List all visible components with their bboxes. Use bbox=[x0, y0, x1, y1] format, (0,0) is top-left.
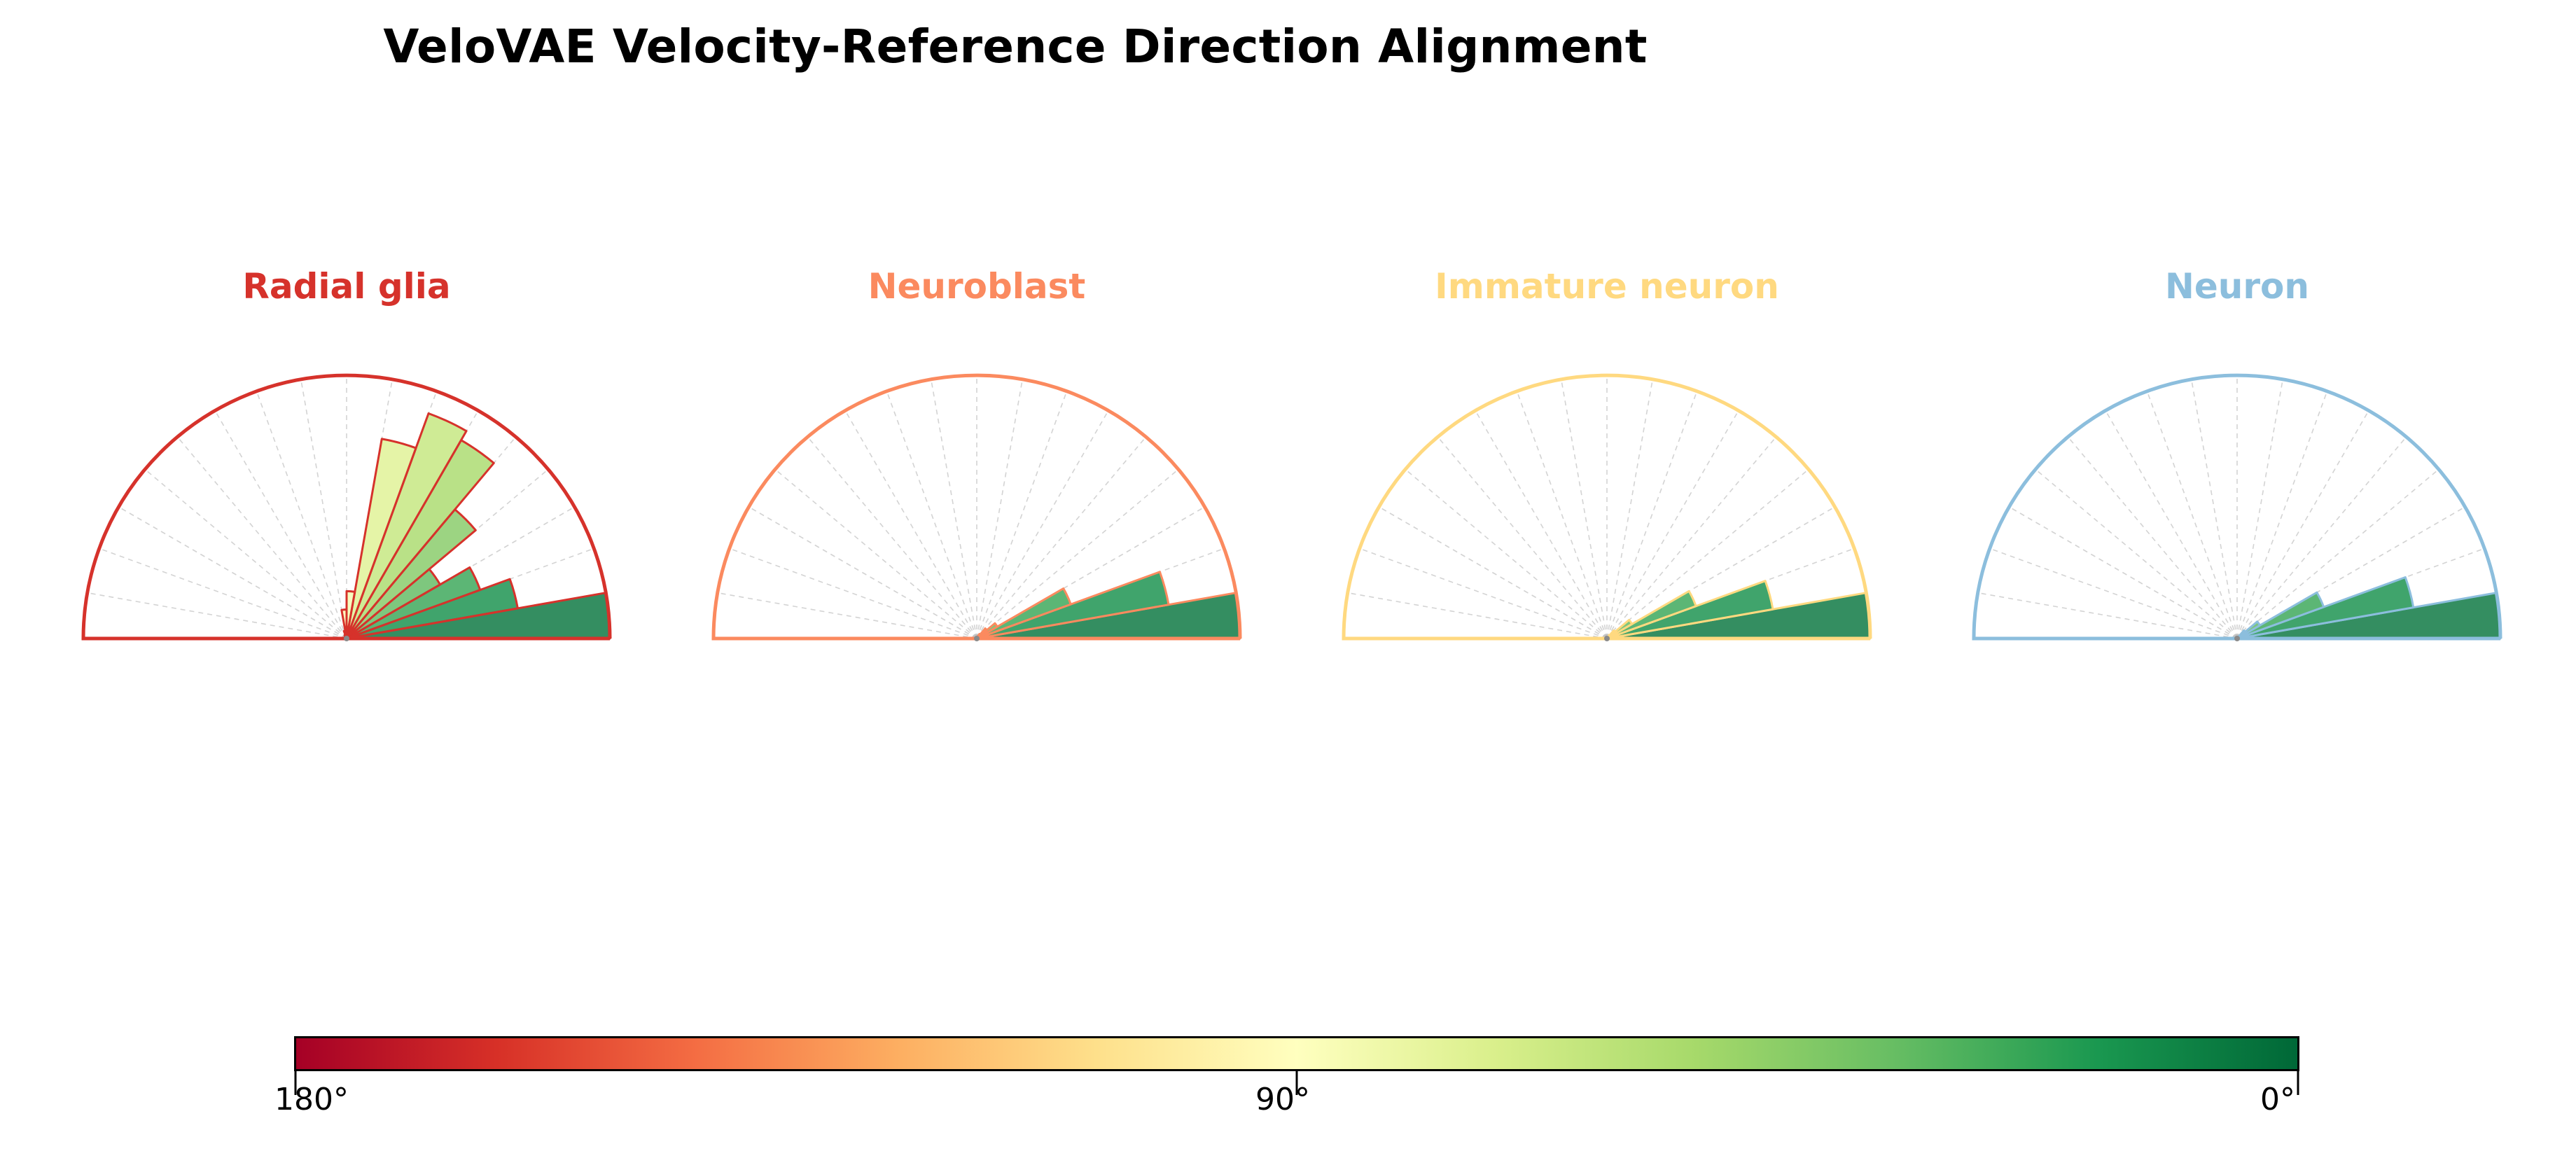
colorbar-tick-180: 180° bbox=[274, 1082, 349, 1117]
polar-axes-immature-neuron bbox=[1292, 330, 1922, 667]
panel-title-radial-glia: Radial glia bbox=[32, 266, 662, 307]
polar-bars bbox=[977, 572, 1240, 639]
polar-panel-neuron: Neuron bbox=[1922, 266, 2552, 714]
polar-gridlines bbox=[1348, 375, 1867, 639]
polar-panel-immature-neuron: Immature neuron bbox=[1292, 266, 1922, 714]
panel-title-neuroblast: Neuroblast bbox=[662, 266, 1292, 307]
polar-bars bbox=[2237, 578, 2500, 639]
polar-axes-radial-glia bbox=[32, 330, 662, 667]
polar-plot-immature-neuron bbox=[1292, 330, 1922, 667]
polar-origin-marker bbox=[2234, 636, 2240, 641]
polar-gridlines bbox=[1978, 375, 2497, 639]
polar-bars bbox=[1607, 581, 1870, 639]
polar-bars bbox=[342, 413, 610, 639]
polar-panel-neuroblast: Neuroblast bbox=[662, 266, 1292, 714]
polar-origin-marker bbox=[1604, 636, 1610, 641]
colorbar-tick-0: 0° bbox=[2260, 1082, 2295, 1117]
polar-plot-neuroblast bbox=[662, 330, 1292, 667]
panel-title-neuron: Neuron bbox=[1922, 266, 2552, 307]
figure-canvas: VeloVAE Velocity-Reference Direction Ali… bbox=[0, 0, 2576, 1151]
panel-title-immature-neuron: Immature neuron bbox=[1292, 266, 1922, 307]
polar-axes-neuron bbox=[1922, 330, 2552, 667]
polar-panel-radial-glia: Radial glia bbox=[32, 266, 662, 714]
figure-title: VeloVAE Velocity-Reference Direction Ali… bbox=[0, 20, 2031, 74]
colorbar bbox=[294, 1036, 2299, 1071]
polar-plot-neuron bbox=[1922, 330, 2552, 667]
polar-plot-radial-glia bbox=[32, 330, 662, 667]
colorbar-tick-90: 90° bbox=[1255, 1082, 1310, 1117]
polar-origin-marker bbox=[974, 636, 980, 641]
colorbar-gradient bbox=[294, 1036, 2299, 1071]
polar-axes-neuroblast bbox=[662, 330, 1292, 667]
polar-origin-marker bbox=[344, 636, 349, 641]
